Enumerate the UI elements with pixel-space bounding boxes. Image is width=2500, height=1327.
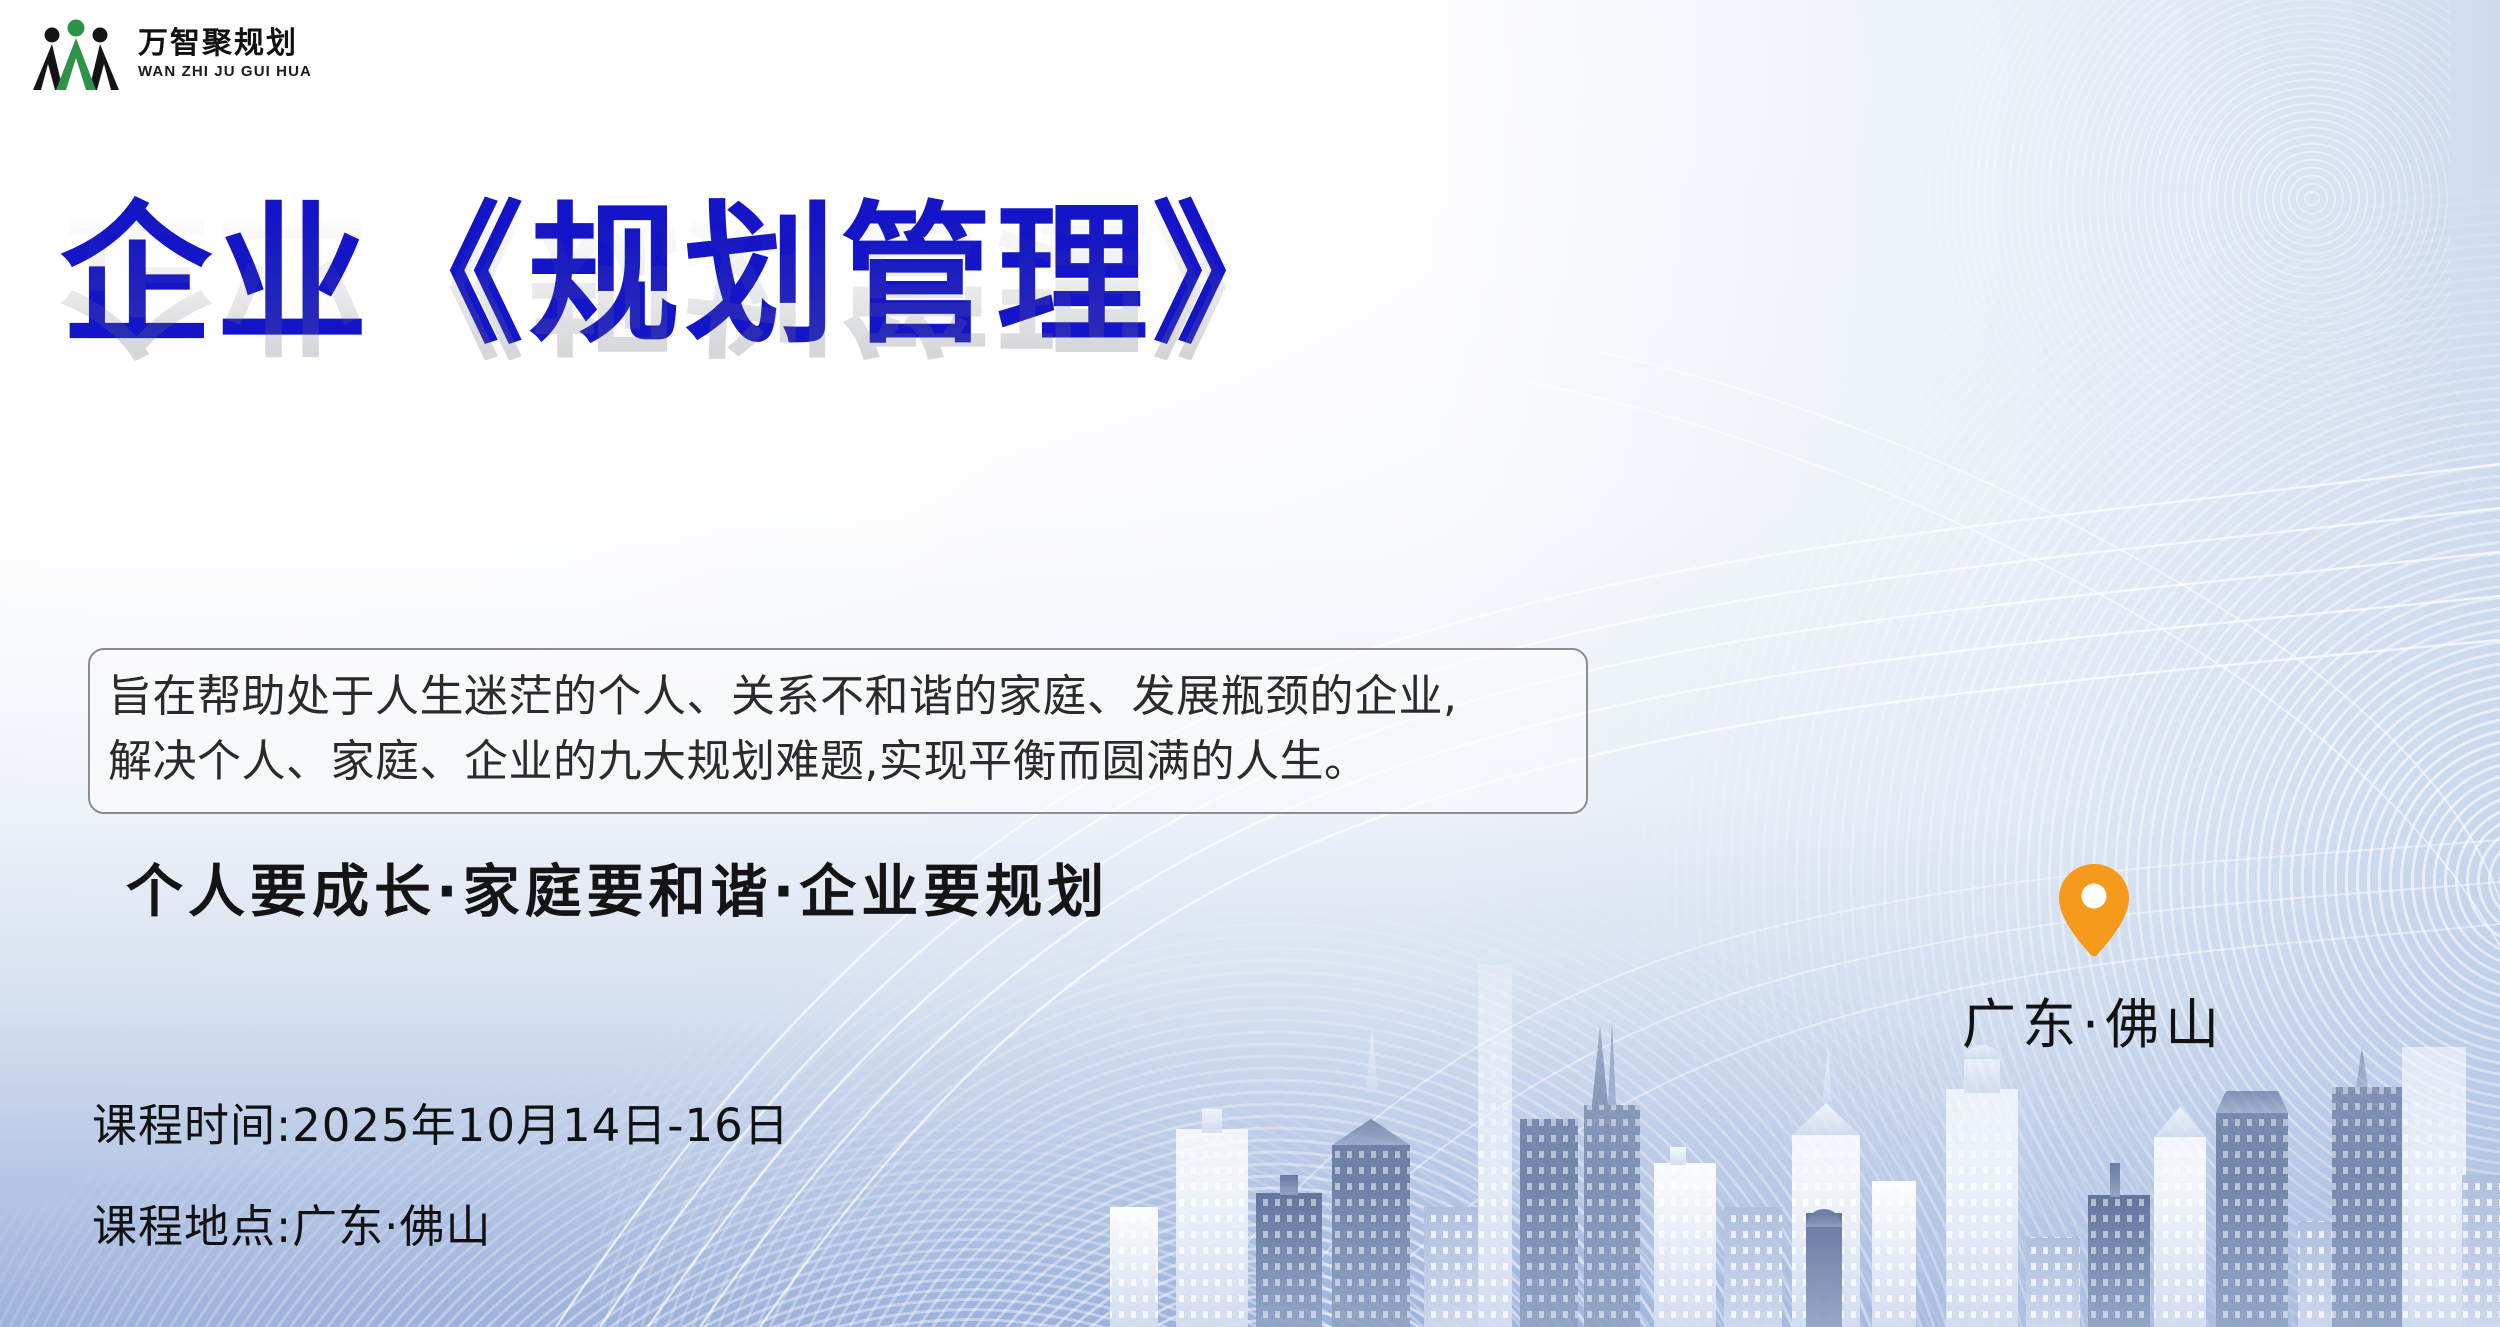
brand-name-cn: 万智聚规划 (138, 27, 312, 61)
map-pin-icon (2055, 862, 2133, 958)
description-line-1: 旨在帮助处于人生迷茫的个人、关系不和谐的家庭、发展瓶颈的企业, (108, 664, 1562, 729)
three-people-logo-icon (30, 18, 122, 90)
page-title-reflection: 企业《规划管理》 (60, 200, 1620, 361)
description-line-2: 解决个人、家庭、企业的九大规划难题,实现平衡而圆满的人生。 (108, 729, 1562, 794)
brand-logo: 万智聚规划 WAN ZHI JU GUI HUA (30, 18, 312, 90)
footer-info: 课程时间:2025年10月14日-16日 课程地点:广东·佛山 (92, 1089, 790, 1255)
city-skyline (1080, 907, 2500, 1327)
slogan-text: 个人要成长·家庭要和谐·企业要规划 (126, 846, 1109, 928)
course-place-line: 课程地点:广东·佛山 (92, 1190, 790, 1255)
location-label: 广东·佛山 (1962, 980, 2225, 1059)
hero-title-block: 企业《规划管理》 企业《规划管理》 (60, 196, 1620, 522)
brand-name-pinyin: WAN ZHI JU GUI HUA (138, 63, 312, 81)
location-badge: 广东·佛山 (1962, 862, 2225, 1059)
course-time-line: 课程时间:2025年10月14日-16日 (92, 1089, 790, 1154)
poster-canvas: 万智聚规划 WAN ZHI JU GUI HUA 企业《规划管理》 企业《规划管… (0, 0, 2500, 1327)
description-box: 旨在帮助处于人生迷茫的个人、关系不和谐的家庭、发展瓶颈的企业, 解决个人、家庭、… (88, 648, 1588, 814)
brand-logo-text: 万智聚规划 WAN ZHI JU GUI HUA (138, 27, 312, 82)
